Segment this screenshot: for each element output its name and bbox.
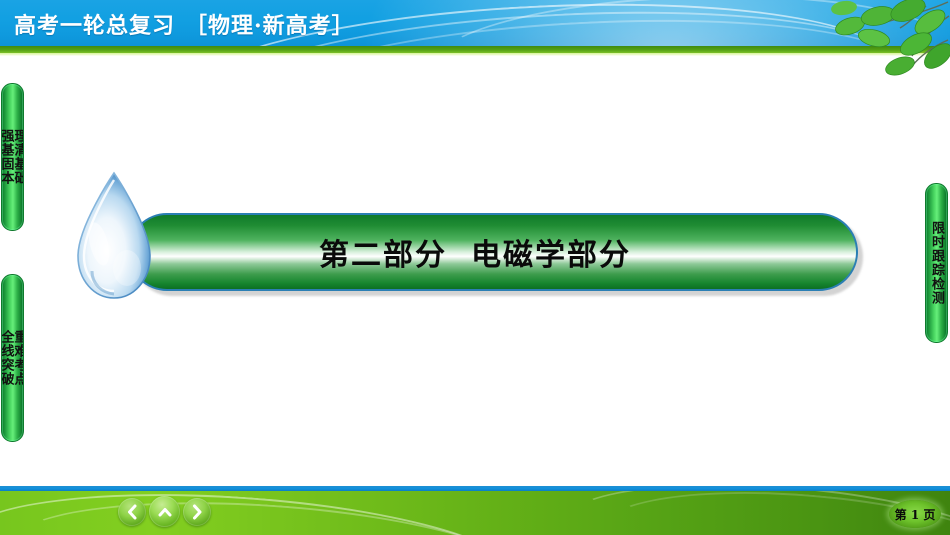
sidebar-tab-label: 重难考点 全线突破 (1, 330, 24, 386)
sidebar-tab-xianshi-gengzong[interactable]: 限时跟踪检测 (925, 183, 948, 343)
header-title-subject: ［物理·新高考］ (185, 13, 355, 39)
banner-topic-label: 电磁学部分 (471, 238, 631, 273)
water-drop-icon (68, 170, 160, 305)
slide-navigation-controls (118, 496, 211, 527)
next-slide-button[interactable] (183, 498, 211, 526)
page-number-badge: 第 1 页 (889, 500, 941, 528)
slide-canvas: 高考一轮总复习［物理·新高考］ (0, 0, 950, 535)
chevron-up-icon (157, 505, 173, 519)
banner-part-label: 第二部分 (319, 238, 447, 273)
home-slide-button[interactable] (149, 496, 180, 527)
sidebar-tab-label: 理清基础 强基固本 (1, 129, 24, 185)
sidebar-tab-liqing-jichu[interactable]: 理清基础 强基固本 (1, 83, 24, 231)
header-title: 高考一轮总复习［物理·新高考］ (14, 8, 355, 40)
header-green-rule (0, 46, 950, 53)
chevron-left-icon (125, 504, 139, 520)
slide-header: 高考一轮总复习［物理·新高考］ (0, 0, 950, 46)
header-swoosh-4 (428, 0, 950, 46)
footer-swoosh-1 (0, 491, 528, 535)
section-title-banner: 第二部分电磁学部分 (128, 213, 858, 291)
sidebar-tab-label: 限时跟踪检测 (930, 221, 943, 305)
header-light-rule (0, 53, 950, 56)
footer-swoosh-2 (7, 491, 538, 535)
header-glow (350, 0, 950, 46)
sidebar-tab-zhongnan-kaodian[interactable]: 重难考点 全线突破 (1, 274, 24, 442)
page-number-label: 第 1 页 (895, 506, 936, 523)
prev-slide-button[interactable] (118, 498, 146, 526)
chevron-right-icon (190, 504, 204, 520)
header-title-main: 高考一轮总复习 (14, 13, 175, 39)
banner-text: 第二部分电磁学部分 (319, 230, 631, 274)
